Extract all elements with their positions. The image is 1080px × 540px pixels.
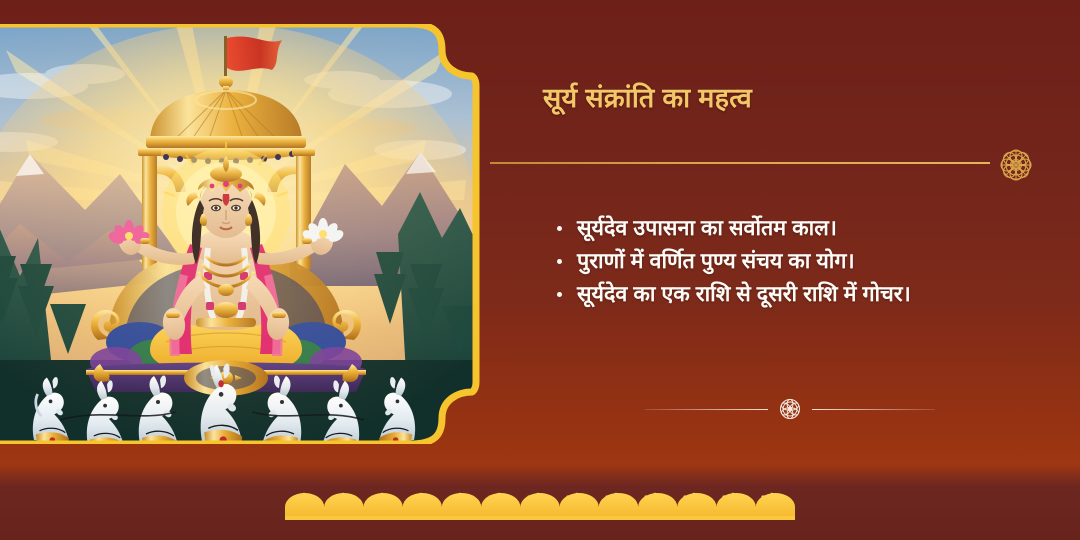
scalloped-border-ornament	[285, 489, 795, 523]
poster-canvas: सूर्य संक्रांति का महत्व	[0, 0, 1080, 540]
section-divider	[645, 393, 935, 425]
list-item: सूर्यदेव का एक राशि से दूसरी राशि में गो…	[549, 278, 1019, 311]
artwork-frame	[0, 24, 483, 444]
mandala-rosette-icon	[994, 143, 1038, 187]
list-item: पुराणों में वर्णित पुण्य संचय का योग।	[549, 245, 1019, 278]
divider-line-left	[645, 409, 768, 410]
title-underline-row	[490, 143, 1038, 187]
key-points-list: सूर्यदेव उपासना का सर्वोतम काल। पुराणों …	[549, 212, 1019, 311]
gold-divider-line	[490, 162, 990, 164]
divider-line-right	[812, 409, 935, 410]
list-item: सूर्यदेव उपासना का सर्वोतम काल।	[549, 212, 1019, 245]
page-title: सूर्य संक्रांति का महत्व	[543, 78, 752, 115]
artwork-panel	[0, 24, 483, 444]
flower-rosette-icon	[775, 394, 805, 424]
